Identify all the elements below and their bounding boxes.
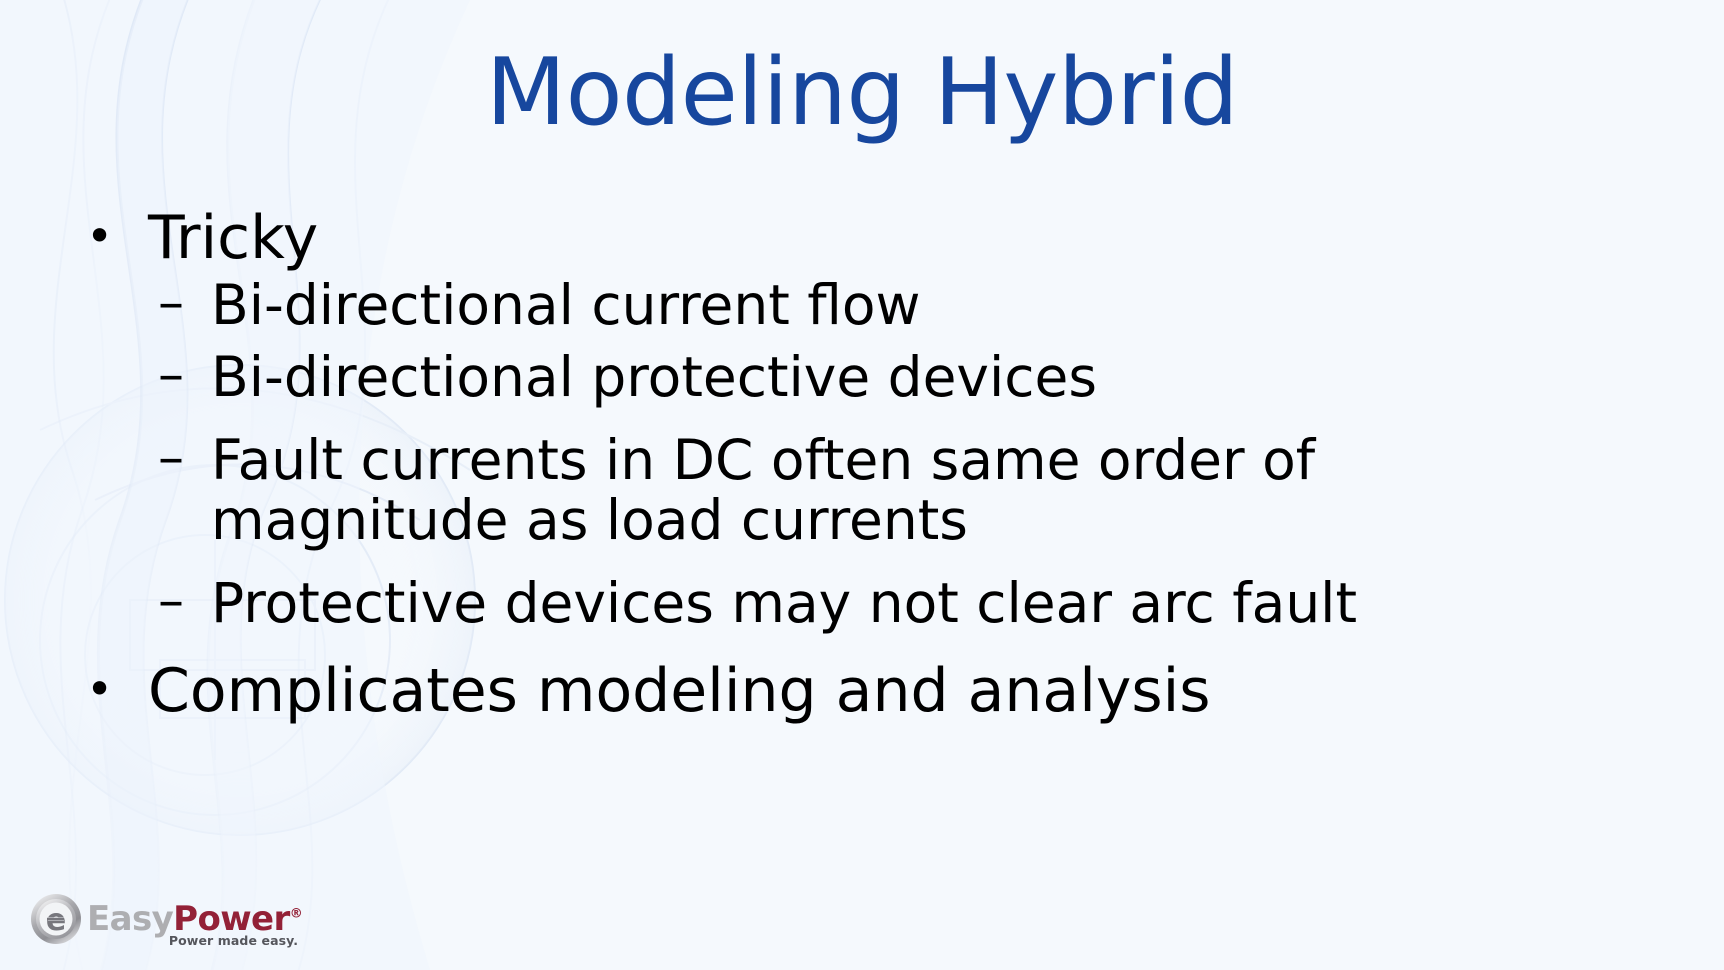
presentation-slide: Modeling Hybrid • Tricky – Bi-directiona… (0, 0, 1724, 970)
bullet-marker-icon: • (86, 659, 148, 721)
list-item: • Tricky (86, 206, 1646, 271)
list-item: – Bi-directional current flow (158, 275, 1646, 336)
slide-body-list: • Tricky – Bi-directional current flow –… (86, 206, 1646, 728)
dash-marker-icon: – (158, 430, 211, 487)
list-item-text: Bi-directional current flow (211, 275, 1466, 336)
list-item-text: Tricky (148, 206, 1646, 271)
logo-tagline: Power made easy. (169, 935, 298, 948)
easypower-wordmark: EasyPower® Power made easy. (87, 902, 302, 936)
dash-marker-icon: – (158, 573, 211, 630)
list-item: – Protective devices may not clear arc f… (158, 573, 1646, 634)
logo-easy-text: Easy (87, 899, 173, 939)
dash-marker-icon: – (158, 275, 211, 332)
list-item: – Fault currents in DC often same order … (158, 430, 1646, 551)
slide-title: Modeling Hybrid (0, 44, 1724, 141)
logo-text: EasyPower® (87, 902, 302, 936)
dash-marker-icon: – (158, 347, 211, 404)
list-item-text: Protective devices may not clear arc fau… (211, 573, 1466, 634)
easypower-e-mark-icon: e (30, 893, 82, 945)
easypower-logo: e EasyPower® Power made easy. (30, 893, 302, 945)
list-item-text: Complicates modeling and analysis (148, 659, 1646, 724)
list-item-text: Fault currents in DC often same order of… (211, 430, 1466, 551)
list-item: – Bi-directional protective devices (158, 347, 1646, 408)
list-item: • Complicates modeling and analysis (86, 659, 1646, 724)
bullet-marker-icon: • (86, 206, 148, 268)
list-item-text: Bi-directional protective devices (211, 347, 1466, 408)
registered-mark-icon: ® (290, 907, 302, 922)
